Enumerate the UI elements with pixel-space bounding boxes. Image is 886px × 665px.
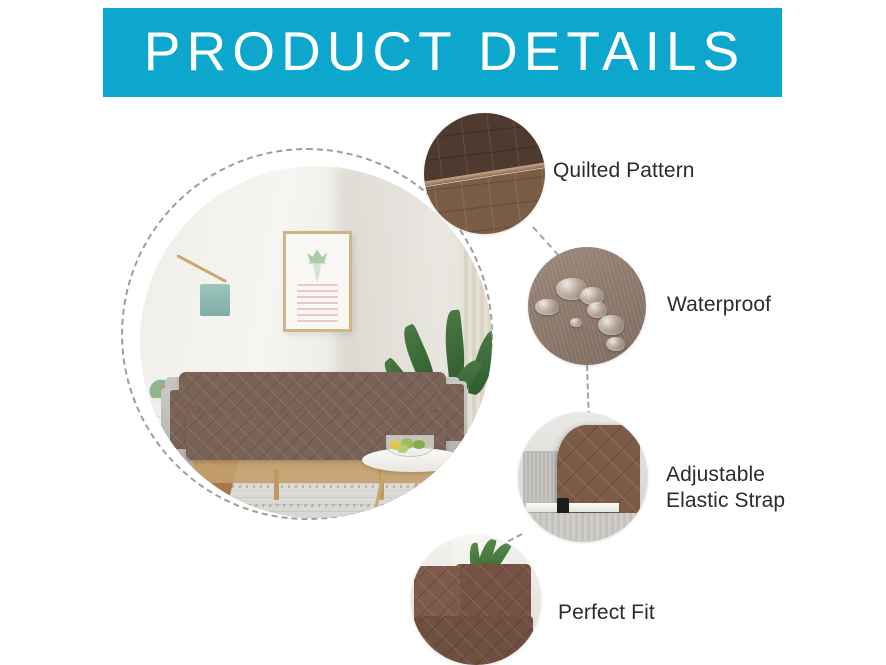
detail-circle-elastic-strap[interactable] [518,412,648,542]
pineapple-art-frame [283,231,352,332]
product-details-banner: PRODUCT DETAILS [103,8,782,97]
side-table-leg [151,416,153,465]
sofa-leg [459,469,464,501]
fruit-bowl [386,435,434,456]
sofa-leg [274,469,279,501]
detail-label-perfect-fit: Perfect Fit [558,600,655,626]
connector-waterproof-to-strap [586,365,590,417]
detail-label-waterproof: Waterproof [667,292,771,318]
strap-buckle-icon [557,498,569,514]
detail-label-elastic-strap: Adjustable Elastic Strap [666,462,785,514]
page-title: PRODUCT DETAILS [140,24,745,79]
water-droplet [606,337,625,351]
water-droplet [570,318,582,327]
art-text-lines [297,284,338,322]
detail-circle-perfect-fit[interactable] [411,535,541,665]
lamp-shade [200,284,230,316]
detail-circle-quilted-pattern[interactable] [424,113,545,234]
pineapple-icon [303,249,332,283]
water-droplet [598,315,624,335]
water-droplet [535,299,559,316]
floor-carpet [518,513,648,542]
sofa-leg [172,469,177,501]
detail-circle-waterproof[interactable] [528,247,646,365]
sofa-cover-seat [414,616,534,665]
detail-label-quilted-pattern: Quilted Pattern [553,158,695,184]
elastic-strap-band [526,503,620,512]
sofa-cover-backrest [179,372,447,418]
